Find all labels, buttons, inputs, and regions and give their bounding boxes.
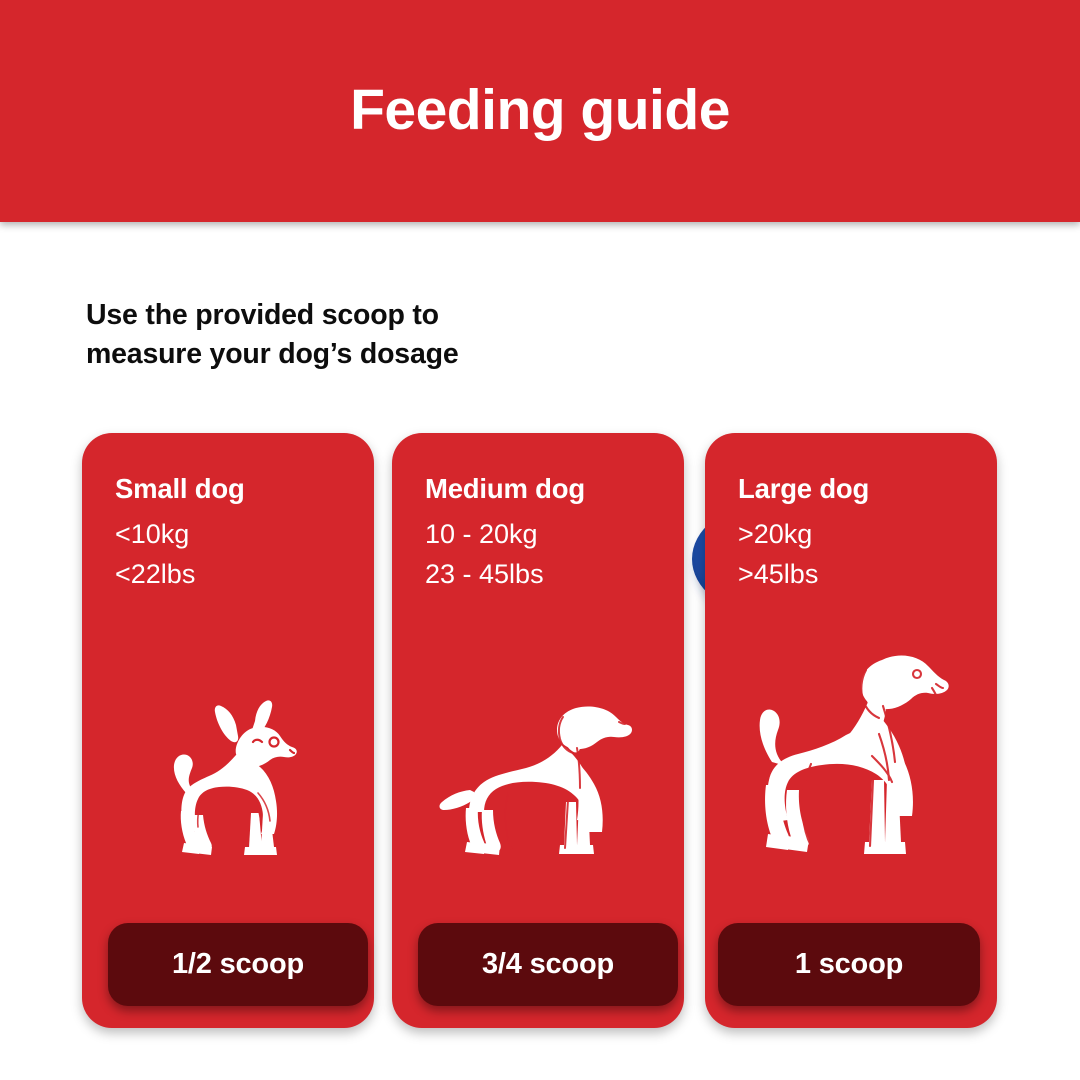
large-dog-silhouette — [705, 630, 997, 870]
instruction-row: Use the provided scoop to measure your d… — [0, 222, 1080, 430]
card-weight-lbs-large: >45lbs — [738, 555, 818, 595]
small-dog-silhouette — [82, 690, 374, 870]
medium-dog-silhouette — [392, 690, 684, 870]
instruction-line-1: Use the provided scoop to — [86, 296, 616, 335]
scoop-badge-medium[interactable]: 3/4 scoop — [418, 923, 678, 1006]
scoop-badge-label-large: 1 scoop — [795, 950, 903, 979]
card-weights-medium: 10 - 20kg 23 - 45lbs — [425, 515, 544, 595]
scoop-badge-large[interactable]: 1 scoop — [718, 923, 980, 1006]
scoop-badge-label-small: 1/2 scoop — [172, 950, 304, 979]
header-banner: Feeding guide — [0, 0, 1080, 222]
card-weight-kg-large: >20kg — [738, 515, 818, 555]
scoop-badge-label-medium: 3/4 scoop — [482, 950, 614, 979]
card-weight-lbs-medium: 23 - 45lbs — [425, 555, 544, 595]
card-heading-medium: Medium dog — [425, 475, 585, 503]
scoop-badge-small[interactable]: 1/2 scoop — [108, 923, 368, 1006]
card-heading-large: Large dog — [738, 475, 869, 503]
card-heading-small: Small dog — [115, 475, 245, 503]
card-weight-kg-small: <10kg — [115, 515, 195, 555]
card-weights-small: <10kg <22lbs — [115, 515, 195, 595]
page-title: Feeding guide — [350, 82, 730, 139]
card-weight-kg-medium: 10 - 20kg — [425, 515, 544, 555]
card-weight-lbs-small: <22lbs — [115, 555, 195, 595]
card-weights-large: >20kg >45lbs — [738, 515, 818, 595]
instruction-line-2: measure your dog’s dosage — [86, 335, 616, 374]
instruction-text: Use the provided scoop to measure your d… — [86, 296, 616, 375]
